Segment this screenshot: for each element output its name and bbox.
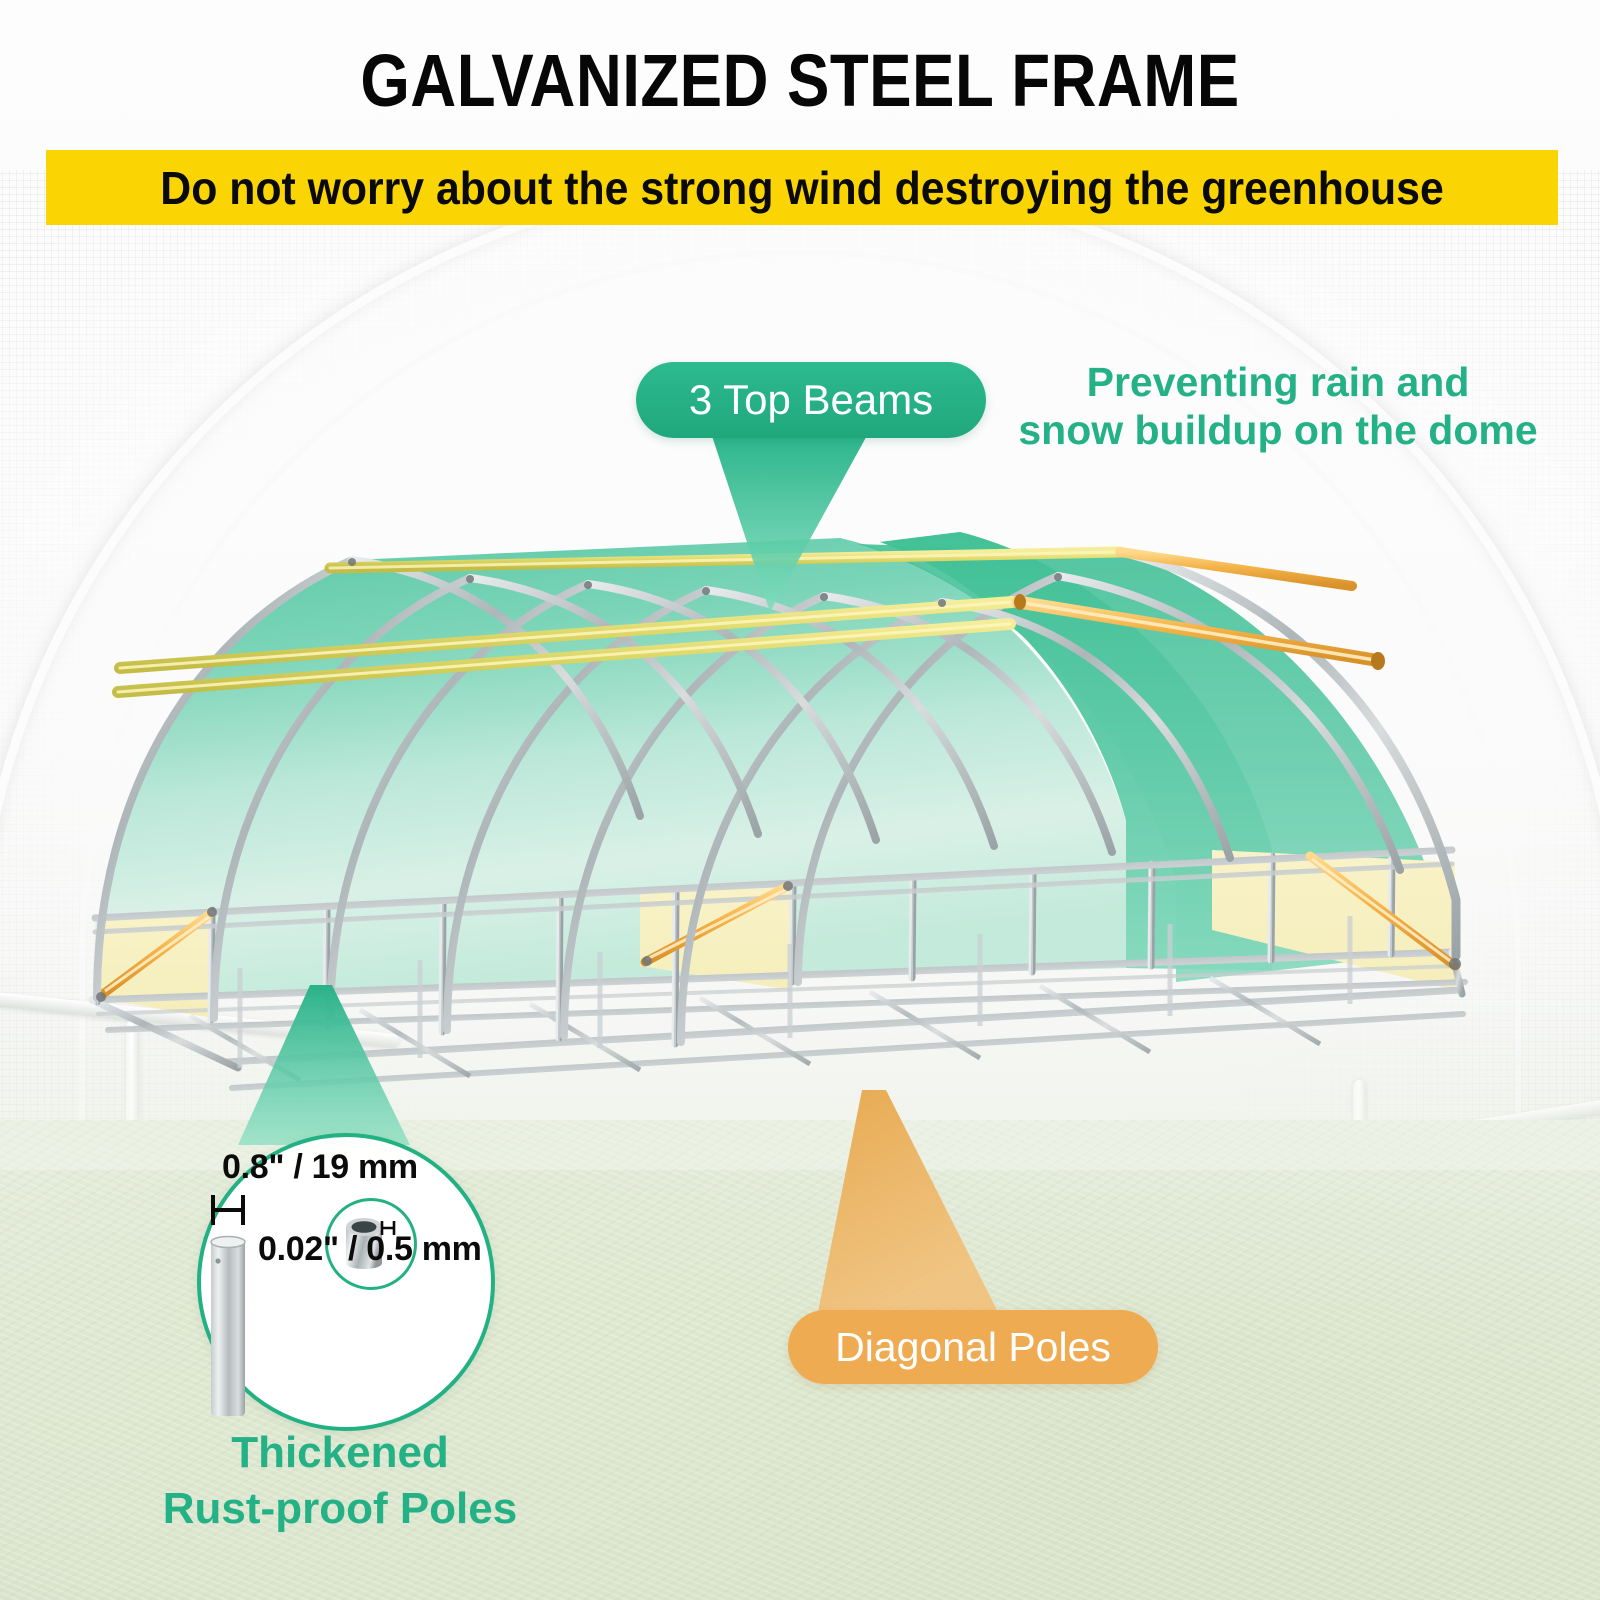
spec-caption-line2: Rust-proof Poles [120,1481,560,1537]
subtitle-text: Do not worry about the strong wind destr… [160,162,1443,214]
spec-caption: Thickened Rust-proof Poles [120,1425,560,1537]
spec-caption-line1: Thickened [120,1425,560,1481]
diagonal-poles-badge[interactable]: Diagonal Poles [788,1310,1158,1384]
top-beams-badge[interactable]: 3 Top Beams [636,362,986,438]
spec-pointer-cone [232,985,432,1150]
subtitle-bar: Do not worry about the strong wind destr… [46,150,1558,225]
dimension-bracket-icon [213,1195,243,1225]
pole-wall-thickness-label: 0.02" / 0.5 mm [258,1230,528,1269]
diagonal-poles-badge-label: Diagonal Poles [835,1324,1111,1371]
dome-note-line1: Preventing rain and [1008,358,1548,406]
diagonal-poles-pointer-cone [790,1090,1120,1320]
pole-diameter-label: 0.8" / 19 mm [222,1148,467,1187]
page-title: GALVANIZED STEEL FRAME [112,40,1488,122]
dome-note-line2: snow buildup on the dome [1008,406,1548,454]
infographic-canvas: GALVANIZED STEEL FRAME Do not worry abou… [0,0,1600,1600]
top-beams-pointer-cone [660,430,960,615]
dome-note: Preventing rain and snow buildup on the … [1008,358,1548,454]
top-beams-badge-label: 3 Top Beams [689,376,933,424]
pole-icon [211,1237,245,1417]
